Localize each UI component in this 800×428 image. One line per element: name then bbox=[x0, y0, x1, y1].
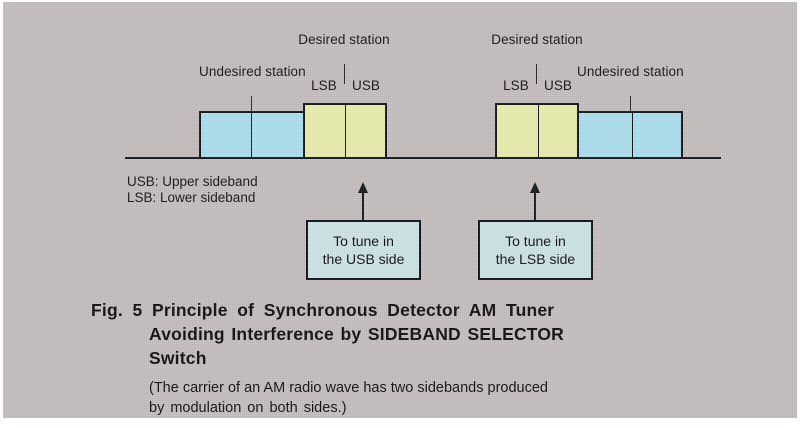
scanned-page-panel: Undesired station Desired station LSB US… bbox=[3, 2, 797, 418]
figure-root: Undesired station Desired station LSB US… bbox=[0, 0, 800, 428]
caption-line-3: Switch bbox=[91, 346, 731, 370]
label-undesired-station-left: Undesired station bbox=[199, 64, 305, 80]
spectrum-block-undesired-right bbox=[577, 111, 683, 159]
sideband-legend: USB: Upper sidebandLSB: Lower sideband bbox=[127, 174, 258, 206]
caption-note-line-2: by modulation on both sides.) bbox=[149, 398, 749, 418]
spectrum-diagram: Undesired station Desired station LSB US… bbox=[3, 2, 797, 302]
carrier-divider-desired-left bbox=[345, 105, 346, 157]
label-desired-station-right: Desired station bbox=[484, 32, 590, 48]
legend-lsb-line: LSB: Lower sideband bbox=[127, 190, 255, 205]
label-lsb-right: LSB bbox=[496, 78, 536, 94]
figure-caption-note: (The carrier of an AM radio wave has two… bbox=[149, 378, 749, 418]
label-usb-right: USB bbox=[537, 78, 579, 94]
callout-tune-lsb[interactable]: To tune in the LSB side bbox=[478, 220, 593, 280]
leader-line-undesired-right bbox=[630, 96, 631, 112]
arrow-shaft-tune-usb bbox=[362, 192, 364, 220]
caption-note-line-1: (The carrier of an AM radio wave has two… bbox=[149, 378, 749, 398]
arrow-shaft-tune-lsb bbox=[534, 192, 536, 220]
figure-caption-title: Fig. 5 Principle of Synchronous Detector… bbox=[91, 298, 731, 370]
spectrum-block-desired-right bbox=[495, 103, 579, 159]
leader-line-undesired-left bbox=[251, 96, 252, 112]
label-desired-station-left: Desired station bbox=[291, 32, 397, 48]
carrier-divider-undesired-right bbox=[632, 113, 633, 157]
carrier-divider-desired-right bbox=[538, 105, 539, 157]
frequency-baseline-axis bbox=[125, 157, 721, 159]
label-lsb-left: LSB bbox=[304, 78, 344, 94]
label-undesired-station-right: Undesired station bbox=[577, 64, 683, 80]
spectrum-block-desired-left bbox=[303, 103, 387, 159]
legend-usb-line: USB: Upper sideband bbox=[127, 174, 258, 189]
spectrum-block-undesired-left bbox=[199, 111, 305, 159]
caption-line-2: Avoiding Interference by SIDEBAND SELECT… bbox=[91, 322, 731, 346]
caption-line-1: Fig. 5 Principle of Synchronous Detector… bbox=[91, 298, 731, 322]
carrier-divider-undesired-left bbox=[251, 113, 252, 157]
callout-tune-usb[interactable]: To tune in the USB side bbox=[306, 220, 421, 280]
label-usb-left: USB bbox=[345, 78, 387, 94]
